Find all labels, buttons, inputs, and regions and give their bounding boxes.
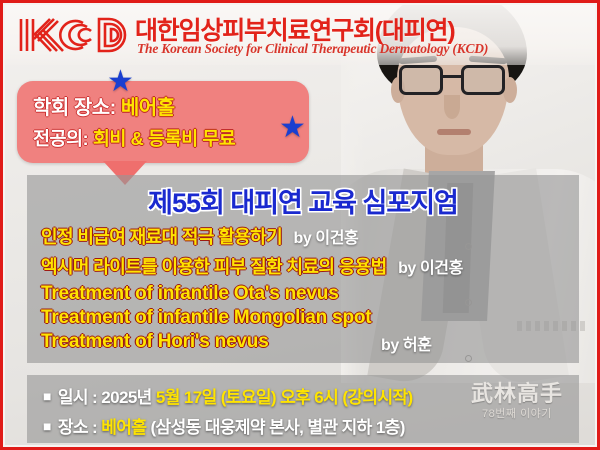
- glasses-icon: [397, 65, 509, 95]
- poster-header: 대한임상피부치료연구회(대피연) The Korean Society for …: [3, 3, 600, 65]
- resident-fee-label: 전공의:: [33, 128, 88, 149]
- kcd-logo-icon: [17, 15, 129, 55]
- venue-callout-bubble: 학회 장소: 베어홀 전공의: 회비 & 등록비 무료: [17, 81, 309, 163]
- datetime-label: 일시 :: [58, 388, 97, 407]
- square-bullet-icon: ■: [43, 418, 51, 434]
- program-item: 엑시머 라이트를 이용한 피부 질환 치료의 응용법 by 이건홍: [41, 253, 463, 279]
- venue-value: 베어홀: [121, 97, 175, 119]
- program-item: 인정 비급여 재료대 적극 활용하기 by 이건홍: [41, 223, 358, 249]
- watermark-subtitle: 78번째 이야기: [471, 409, 563, 421]
- star-icon: ★: [107, 67, 134, 97]
- location-label: 장소 :: [58, 418, 97, 437]
- location-address: (삼성동 대웅제약 본사, 별관 지하 1층): [151, 418, 405, 437]
- nose: [444, 95, 460, 119]
- location-value: 베어홀: [101, 418, 146, 437]
- program-topic: 엑시머 라이트를 이용한 피부 질환 치료의 응용법: [41, 257, 387, 277]
- program-item: Treatment of infantile Ota's nevus: [41, 283, 339, 305]
- resident-fee-value: 회비 & 등록비 무료: [93, 128, 235, 149]
- program-item: Treatment of Hori's nevus by 허훈: [41, 331, 269, 353]
- glasses-lens-right: [461, 65, 505, 95]
- square-bullet-icon: ■: [43, 388, 51, 404]
- program-speaker: by 이건홍: [294, 230, 359, 247]
- glasses-lens-left: [399, 65, 443, 95]
- program-topic: Treatment of infantile Mongolian spot: [41, 307, 371, 328]
- datetime-value: 5월 17일 (토요일) 오후 6시 (강의시작): [156, 388, 413, 407]
- program-panel: 제55회 대피연 교육 심포지엄 인정 비급여 재료대 적극 활용하기 by 이…: [27, 175, 579, 363]
- event-details-panel: ■일시 : 2025년 5월 17일 (토요일) 오후 6시 (강의시작) ■장…: [27, 375, 579, 443]
- glasses-bridge: [443, 75, 463, 78]
- star-icon: ★: [279, 113, 306, 143]
- program-speaker: by 허훈: [381, 331, 432, 355]
- resident-fee-line: 전공의: 회비 & 등록비 무료: [33, 125, 235, 151]
- watermark: 武林高手 78번째 이야기: [471, 383, 563, 421]
- society-name-english: The Korean Society for Clinical Therapeu…: [137, 41, 488, 57]
- watermark-title: 武林高手: [471, 383, 563, 406]
- program-topic: Treatment of Hori's nevus: [41, 331, 269, 352]
- symposium-poster: 대한임상피부치료연구회(대피연) The Korean Society for …: [0, 0, 600, 450]
- mouth: [437, 129, 471, 135]
- venue-line: 학회 장소: 베어홀: [33, 91, 175, 120]
- event-datetime-row: ■일시 : 2025년 5월 17일 (토요일) 오후 6시 (강의시작): [43, 383, 413, 408]
- program-item: Treatment of infantile Mongolian spot: [41, 307, 371, 329]
- program-topic: 인정 비급여 재료대 적극 활용하기: [41, 227, 282, 247]
- venue-label: 학회 장소:: [33, 97, 116, 119]
- event-location-row: ■장소 : 베어홀 (삼성동 대웅제약 본사, 별관 지하 1층): [43, 413, 405, 438]
- page-title: 제55회 대피연 교육 심포지엄: [27, 181, 579, 220]
- program-topic: Treatment of infantile Ota's nevus: [41, 283, 339, 304]
- program-speaker: by 이건홍: [398, 260, 463, 277]
- datetime-year: 2025년: [101, 388, 151, 407]
